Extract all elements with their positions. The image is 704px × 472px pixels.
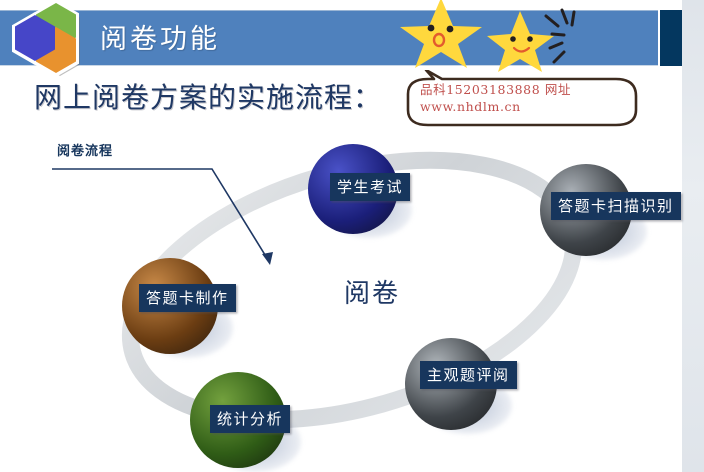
slide-canvas: 阅卷功能 网上阅卷方案的实施流程：: [0, 0, 704, 472]
center-word: 阅卷: [344, 273, 400, 310]
bubble-line-1: 品科15203183888 网址: [420, 81, 571, 98]
right-edge-band: [682, 0, 704, 472]
star-left-icon: [398, 0, 484, 70]
node-label[interactable]: 学生考试: [330, 173, 410, 201]
node-label[interactable]: 答题卡制作: [139, 284, 236, 312]
bubble-line-2: www.nhdlm.cn: [420, 98, 571, 115]
bubble-text-block: 品科15203183888 网址 www.nhdlm.cn: [420, 81, 571, 115]
contact-speech-bubble: 品科15203183888 网址 www.nhdlm.cn: [404, 70, 642, 128]
navy-corner-block: [660, 10, 682, 66]
hexagon-logo: [8, 0, 94, 76]
page-title: 网上阅卷方案的实施流程：: [34, 76, 382, 116]
node-label[interactable]: 统计分析: [210, 405, 290, 433]
star-sparkle-rays-icon: [540, 8, 590, 70]
node-label[interactable]: 答题卡扫描识别: [551, 192, 681, 220]
right-edge-gap: [678, 0, 682, 472]
header-title: 阅卷功能: [100, 17, 220, 56]
node-label[interactable]: 主观题评阅: [420, 361, 517, 389]
